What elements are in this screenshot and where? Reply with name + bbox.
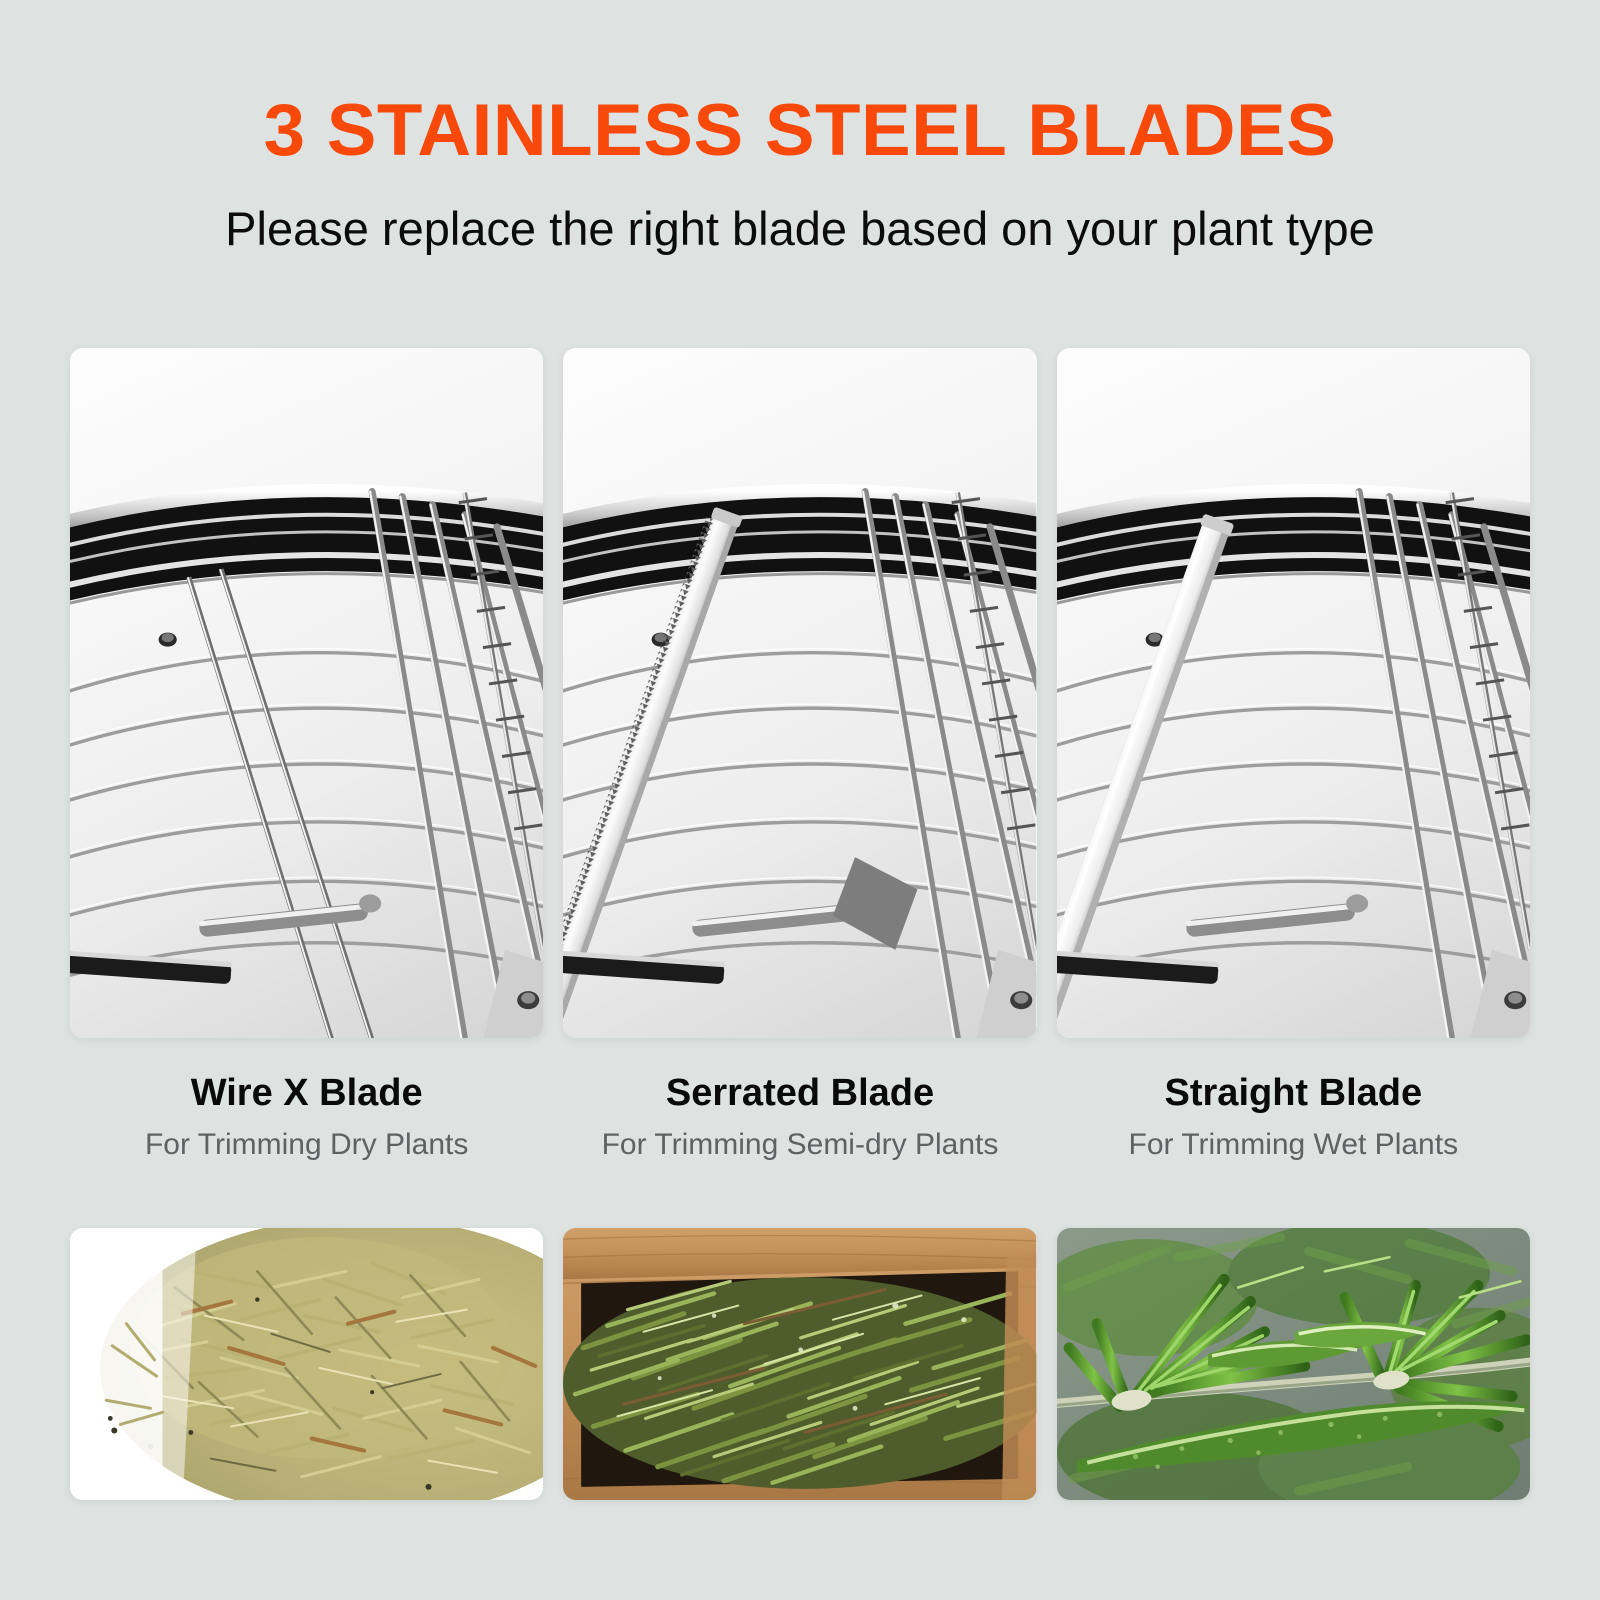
fresh-green-rosemary-sprigs-closeup-image xyxy=(1057,1228,1530,1500)
plant-card-dry[interactable] xyxy=(70,1228,543,1500)
blade-type-label: Serrated Blade xyxy=(563,1072,1036,1115)
stainless-steel-trimmer-with-wire-x-blade-image xyxy=(70,348,543,1038)
dried-rosemary-needles-on-white-background-image xyxy=(70,1228,543,1500)
page-subheadline: Please replace the right blade based on … xyxy=(0,205,1600,252)
product-card-serrated[interactable] xyxy=(563,348,1036,1038)
screw-detail xyxy=(159,633,177,647)
plant-card-semi-dry[interactable] xyxy=(563,1228,1036,1500)
product-card-wire-x[interactable] xyxy=(70,348,543,1038)
product-image-row xyxy=(70,348,1530,1038)
blade-caption-row: Wire X Blade For Trimming Dry Plants Ser… xyxy=(70,1058,1530,1198)
blade-usage-label: For Trimming Wet Plants xyxy=(1057,1125,1530,1164)
plant-image-row xyxy=(70,1228,1530,1500)
blade-caption-wire-x: Wire X Blade For Trimming Dry Plants xyxy=(70,1058,543,1198)
blade-caption-serrated: Serrated Blade For Trimming Semi-dry Pla… xyxy=(563,1058,1036,1198)
stainless-steel-trimmer-with-serrated-blade-image xyxy=(563,348,1036,1038)
blade-caption-straight: Straight Blade For Trimming Wet Plants xyxy=(1057,1058,1530,1198)
blade-type-label: Straight Blade xyxy=(1057,1072,1530,1115)
stainless-steel-trimmer-with-straight-blade-image xyxy=(1057,348,1530,1038)
product-card-straight[interactable] xyxy=(1057,348,1530,1038)
semi-dry-rosemary-on-wooden-cutting-board-image xyxy=(563,1228,1036,1500)
blade-usage-label: For Trimming Semi-dry Plants xyxy=(563,1125,1036,1164)
blade-type-label: Wire X Blade xyxy=(70,1072,543,1115)
page-headline: 3 STAINLESS STEEL BLADES xyxy=(0,94,1600,167)
blade-usage-label: For Trimming Dry Plants xyxy=(70,1125,543,1164)
plant-card-wet[interactable] xyxy=(1057,1228,1530,1500)
